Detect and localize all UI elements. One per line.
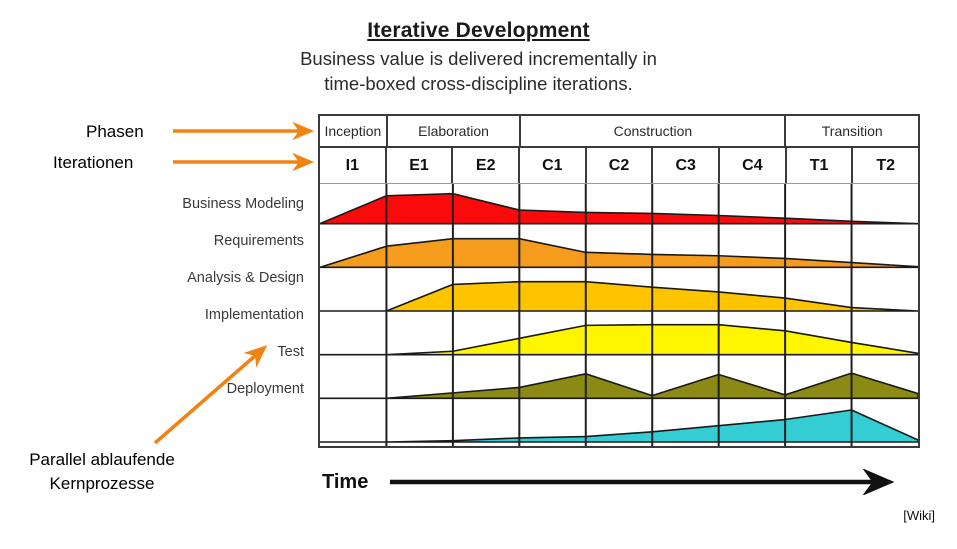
discipline-label-list: Business Modeling Requirements Analysis …: [130, 186, 312, 408]
page-title: Iterative Development: [0, 18, 957, 44]
iteration-cell-t1: T1: [787, 148, 854, 183]
annotation-phasen: Phasen: [86, 122, 144, 142]
annotation-parallel-line-1: Parallel ablaufende: [2, 448, 202, 472]
annotation-iterationen: Iterationen: [53, 153, 133, 173]
discipline-label-analysis-design: Analysis & Design: [130, 260, 312, 297]
iteration-cell-i1: I1: [320, 148, 387, 183]
plot-area: [320, 184, 918, 446]
iteration-cell-c4: C4: [720, 148, 787, 183]
time-axis-label: Time: [322, 471, 368, 494]
discipline-label-test: Test: [130, 334, 312, 371]
phase-cell-transition: Transition: [786, 116, 918, 146]
iteration-cell-e2: E2: [453, 148, 520, 183]
annotation-parallel-kernprozesse: Parallel ablaufende Kernprozesse: [2, 448, 202, 496]
discipline-label-deployment: Deployment: [130, 371, 312, 408]
title-block: Iterative Development Business value is …: [0, 18, 957, 96]
hump-test: [320, 373, 918, 398]
iteration-header-row: I1E1E2C1C2C3C4T1T2: [320, 148, 918, 184]
hump-implementation: [320, 325, 918, 355]
discipline-label-business-modeling: Business Modeling: [130, 186, 312, 223]
discipline-label-requirements: Requirements: [130, 223, 312, 260]
iteration-cell-t2: T2: [853, 148, 918, 183]
iteration-cell-c1: C1: [520, 148, 587, 183]
hump-business-modeling: [320, 194, 918, 224]
page-subtitle: Business value is delivered incrementall…: [0, 46, 957, 96]
annotation-parallel-line-2: Kernprozesse: [2, 472, 202, 496]
discipline-label-implementation: Implementation: [130, 297, 312, 334]
source-credit: [Wiki]: [903, 508, 935, 523]
hump-chart: InceptionElaborationConstructionTransiti…: [318, 114, 920, 448]
iteration-cell-c2: C2: [587, 148, 654, 183]
phase-header-row: InceptionElaborationConstructionTransiti…: [320, 116, 918, 148]
time-axis: Time: [322, 465, 922, 505]
subtitle-line-1: Business value is delivered incrementall…: [0, 46, 957, 71]
time-arrow-icon: [388, 469, 908, 495]
hump-curves: [320, 184, 918, 446]
iteration-cell-c3: C3: [653, 148, 720, 183]
hump-deployment: [320, 410, 918, 442]
subtitle-line-2: time-boxed cross-discipline iterations.: [0, 71, 957, 96]
hump-requirements: [320, 239, 918, 268]
hump-analysis-design: [320, 282, 918, 311]
phase-cell-elaboration: Elaboration: [388, 116, 522, 146]
phase-cell-construction: Construction: [521, 116, 786, 146]
iteration-cell-e1: E1: [387, 148, 454, 183]
phase-cell-inception: Inception: [320, 116, 388, 146]
